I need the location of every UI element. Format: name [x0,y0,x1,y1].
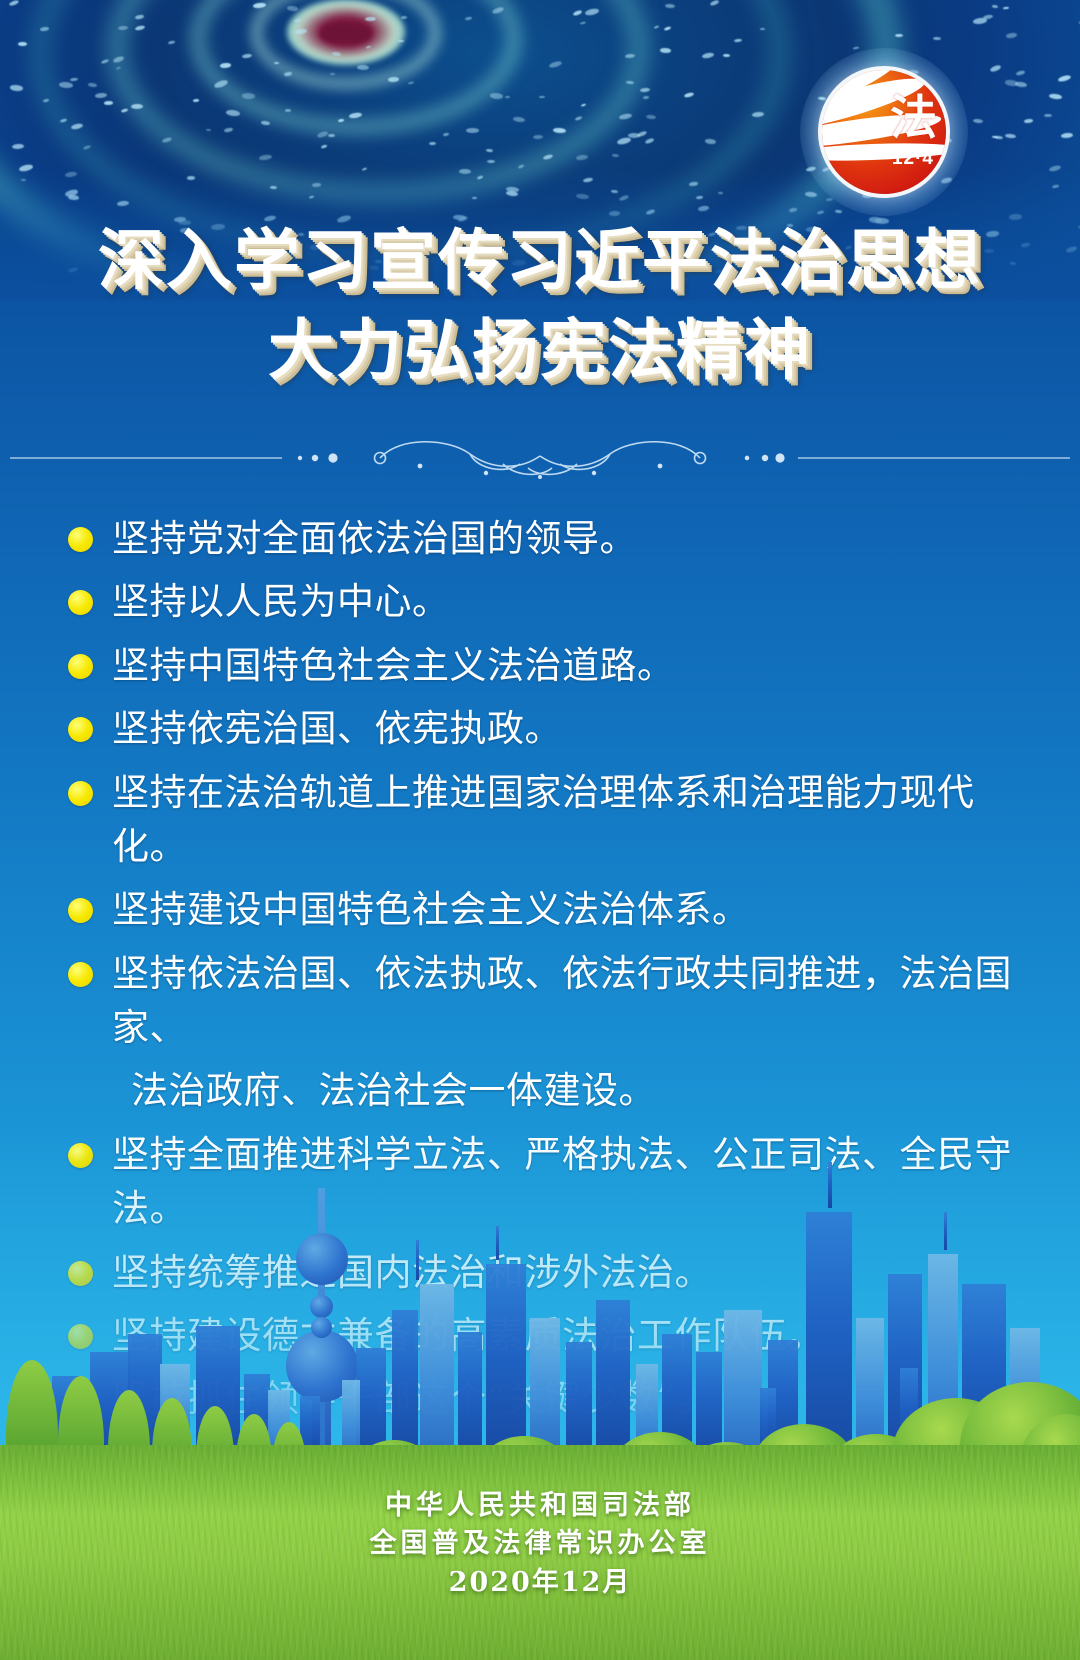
ceiling-light-dot [972,119,982,124]
ceiling-light-dot [332,52,341,57]
pearl-tower-bead-1 [310,1295,333,1318]
ceiling-light-dot [18,42,27,46]
ceiling-light-dot [643,96,649,99]
ceiling-light-dot [295,28,308,35]
ceiling-light-dot [465,16,473,20]
ceiling-light-dot [101,59,109,65]
ceiling-light-dot [1061,132,1074,138]
logo-fa-character: 法 [890,94,937,141]
ceiling-light-dot [486,160,494,163]
ceiling-light-dot [387,77,399,82]
ceiling-light-dot [261,120,271,125]
bullet-dot-icon [68,898,93,923]
bullet-dot-icon [68,781,93,806]
ceiling-light-dot [328,134,335,137]
footer-org-ministry: 中华人民共和国司法部 [0,1487,1080,1525]
bullet-dot-icon [68,717,93,742]
pearl-tower-bead-2 [311,1317,332,1338]
ceiling-light-dot [224,127,234,133]
ceiling-light-dot [330,73,335,75]
ceiling-light-dot [933,37,941,41]
principle-text: 坚持在法治轨道上推进国家治理体系和治理能力现代化。 [112,766,1012,875]
ceiling-light-dot [82,145,90,151]
ceiling-light-dot [705,138,717,144]
ceiling-light-dot [241,53,252,59]
ceiling-light-dot [723,54,730,57]
ceiling-light-dot [59,81,73,88]
principle-text: 坚持依法治国、依法执政、依法行政共同推进，法治国家、 [112,947,1012,1056]
ceiling-light-dot [663,26,671,31]
ceiling-light-dot [585,8,600,17]
ceiling-light-dot [575,116,582,121]
ceiling-light-dot [640,87,650,92]
principle-text: 坚持中国特色社会主义法治道路。 [112,639,675,693]
poster-title: 深入学习宣传习近平法治思想 大力弘扬宪法精神 [0,222,1080,390]
skyline-antenna [416,1240,419,1280]
ceiling-light-dot [654,25,660,29]
title-line-1: 深入学习宣传习近平法治思想 [0,222,1080,300]
ceiling-light-dot [294,18,302,22]
ceiling-light-dot [398,40,404,43]
ceiling-light-dot [1057,75,1071,84]
ceiling-light-dot [983,14,993,20]
ceiling-light-dot [616,136,631,145]
ceiling-light-dot [103,101,112,105]
ceiling-light-dot [1015,81,1028,88]
ceiling-light-dot [612,154,619,158]
ceiling-light-dot [338,118,345,122]
ceiling-light-dot [168,41,175,45]
ceiling-light-dot [549,60,563,69]
ceiling-light-dot [226,109,241,116]
ceiling-light-dot [625,53,635,58]
principle-text: 坚持以人民为中心。 [112,575,450,629]
ceiling-light-dot [10,85,24,92]
ceiling-light-dot [95,93,108,99]
ceiling-light-dot [349,112,362,119]
ceiling-light-dot [242,93,256,99]
ceiling-light-dot [59,118,67,123]
ceiling-light-dot [512,116,525,123]
ceiling-light-dot [665,3,675,8]
principle-item: 坚持以人民为中心。 [68,575,1012,629]
pearl-tower-upper-sphere [296,1233,348,1285]
ceiling-light-dot [751,112,764,118]
ceiling-light-dot [485,148,492,152]
principle-text: 坚持党对全面依法治国的领导。 [112,512,637,566]
ceiling-light-dot [12,144,24,150]
ceiling-light-dot [576,154,588,161]
ceiling-light-dot [285,109,291,112]
ceiling-light-dot [213,78,228,88]
ceiling-light-dot [895,34,903,37]
principle-item: 坚持在法治轨道上推进国家治理体系和治理能力现代化。 [68,766,1012,875]
ceiling-light-dot [580,21,586,25]
ceiling-light-dot [40,26,50,31]
ceiling-light-dot [1044,114,1052,117]
ceiling-light-dot [542,154,553,161]
ceiling-light-dot [408,82,414,86]
ceiling-light-dot [118,26,129,31]
ceiling-light-dot [1049,93,1062,100]
ceiling-light-dot [317,131,329,139]
ceiling-light-dot [553,127,566,133]
ceiling-light-dot [116,67,122,71]
ceiling-light-dot [357,65,369,70]
ceiling-light-dot [992,5,998,8]
ceiling-light-dot [1006,32,1018,38]
ceiling-light-dot [702,51,715,58]
bullet-dot-icon [68,527,93,552]
ceiling-light-dot [161,136,172,143]
ceiling-light-dot [135,14,145,20]
ceiling-light-dot [489,92,503,99]
ceiling-light-dot [853,47,859,50]
ceiling-light-dot [580,103,586,107]
ceiling-light-dot [364,17,375,22]
logo-disc: 法 12·4 [822,70,946,194]
ceiling-light-dot [618,112,632,120]
ornamental-flourish-divider [0,430,1080,480]
ceiling-light-dot [442,132,448,136]
principle-item: 坚持中国特色社会主义法治道路。 [68,639,1012,693]
poster-footer: 中华人民共和国司法部 全国普及法律常识办公室 2020年12月 [0,1487,1080,1602]
principle-text: 坚持依宪治国、依宪执政。 [112,702,562,756]
ceiling-light-dot [8,0,19,7]
ceiling-light-dot [131,104,143,109]
ceiling-light-dot [429,142,436,145]
principle-item: 坚持党对全面依法治国的领导。 [68,512,1012,566]
ceiling-light-dot [659,48,671,53]
ceiling-light-dot [466,128,479,133]
ceiling-light-dot [284,72,293,77]
ceiling-light-dot [572,10,582,17]
ceiling-light-dot [287,5,298,11]
principle-text-continuation: 法治政府、法治社会一体建设。 [131,1064,1012,1118]
ceiling-light-dot [88,82,97,87]
ceiling-light-dot [491,6,504,14]
ceiling-light-dot [1024,119,1033,124]
principle-item: 坚持建设中国特色社会主义法治体系。 [68,883,1012,937]
logo-date-label: 12·4 [892,148,934,170]
ceiling-light-dot [320,144,327,149]
footer-org-office: 全国普及法律常识办公室 [0,1525,1080,1563]
poster-root: 法 12·4 深入学习宣传习近平法治思想 大力弘扬宪法精神 [0,0,1080,1660]
legal-publicity-logo: 法 12·4 [822,70,946,194]
ceiling-light-dot [401,16,407,19]
ceiling-light-dot [626,80,634,84]
ceiling-light-dot [43,99,50,103]
ceiling-light-dot [760,28,765,30]
ceiling-light-dot [134,25,144,31]
principle-item: 坚持依法治国、依法执政、依法行政共同推进，法治国家、 [68,947,1012,1056]
ceiling-light-dot [646,114,657,119]
ceiling-light-dot [70,77,78,81]
ceiling-light-dot [644,138,654,145]
ceiling-light-dot [995,136,1003,140]
ceiling-light-dot [539,96,545,99]
ceiling-light-dot [113,56,125,64]
bullet-dot-icon [68,590,93,615]
ceiling-light-dot [253,3,266,10]
ceiling-light-dot [1003,6,1009,9]
ceiling-light-dot [684,91,695,98]
ceiling-light-dot [366,45,372,49]
title-line-2: 大力弘扬宪法精神 [0,312,1080,390]
ceiling-light-dot [505,96,510,98]
ceiling-light-dot [709,0,718,6]
ceiling-light-dot [220,63,231,68]
ceiling-light-dot [71,123,83,130]
ceiling-light-dot [206,128,211,131]
ceiling-light-dot [637,130,648,137]
ceiling-light-dot [518,164,525,169]
principle-item: 坚持依宪治国、依宪执政。 [68,702,1012,756]
ceiling-light-dot [989,64,1001,72]
ceiling-light-dot [1016,70,1026,76]
ceiling-light-dot [121,108,129,113]
ceiling-light-dot [1005,133,1016,138]
ceiling-light-dot [533,135,543,140]
ceiling-light-dot [259,154,272,161]
ceiling-light-dot [274,62,279,64]
skyline-antenna [944,1212,947,1250]
skyline-antenna [828,1162,832,1208]
skyline-antenna [496,1226,499,1260]
ceiling-light-dot [734,39,742,43]
bullet-dot-icon [68,962,93,987]
ceiling-light-dot [193,99,199,102]
bullet-dot-icon [68,654,93,679]
footer-date: 2020年12月 [0,1564,1080,1602]
principle-text: 坚持建设中国特色社会主义法治体系。 [112,883,750,937]
